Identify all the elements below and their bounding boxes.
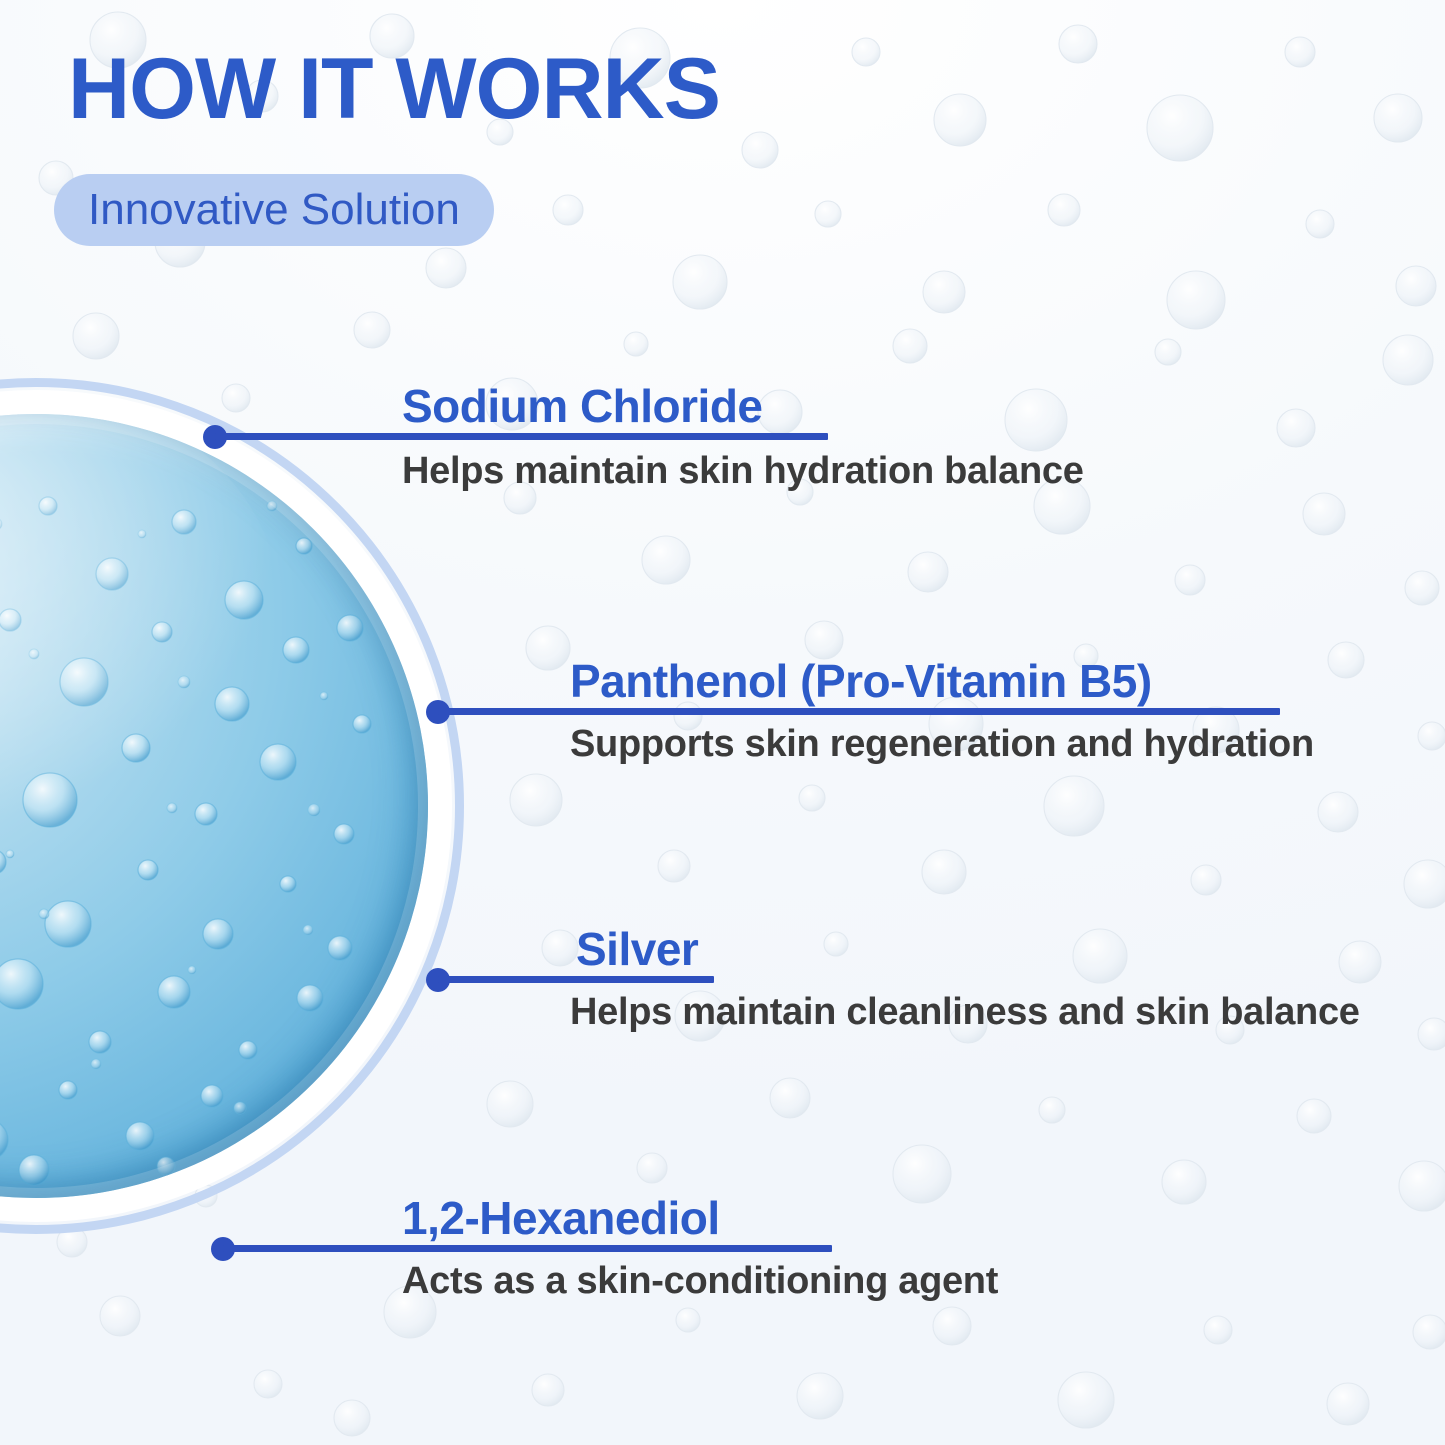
callout-rule-2 xyxy=(438,708,1280,715)
gel-sphere-graphic xyxy=(0,378,468,1238)
ingredient-name-2: Panthenol (Pro-Vitamin B5) xyxy=(570,654,1152,708)
how-it-works-infographic: HOW IT WORKS Innovative Solution Sodium … xyxy=(0,0,1445,1445)
subtitle-badge: Innovative Solution xyxy=(54,174,494,246)
ingredient-desc-1: Helps maintain skin hydration balance xyxy=(402,450,1084,493)
ingredient-desc-2: Supports skin regeneration and hydration xyxy=(570,723,1314,766)
ingredient-name-4: 1,2-Hexanediol xyxy=(402,1191,720,1245)
callout-rule-1 xyxy=(215,433,828,440)
ingredient-desc-3: Helps maintain cleanliness and skin bala… xyxy=(570,991,1360,1034)
ingredient-name-3: Silver xyxy=(576,922,698,976)
ingredient-desc-4: Acts as a skin-conditioning agent xyxy=(402,1260,998,1303)
callout-rule-4 xyxy=(223,1245,832,1252)
ingredient-name-1: Sodium Chloride xyxy=(402,379,763,433)
callout-rule-3 xyxy=(438,976,714,983)
page-title: HOW IT WORKS xyxy=(68,44,720,134)
